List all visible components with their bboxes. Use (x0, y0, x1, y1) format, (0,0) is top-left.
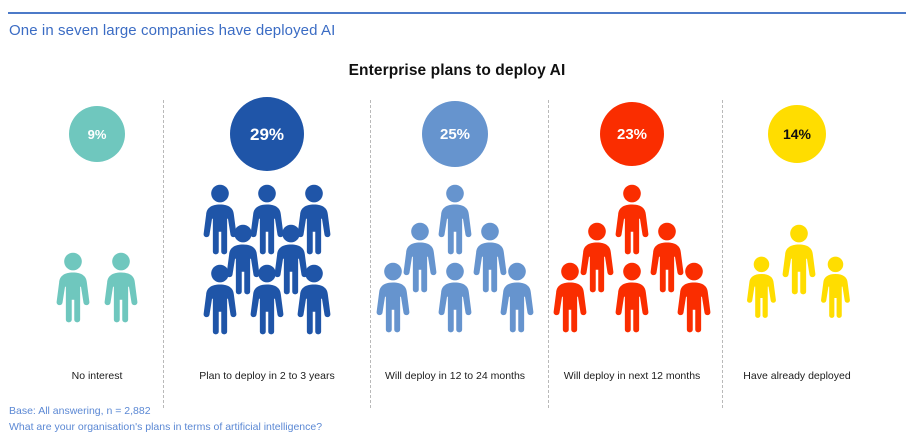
category-label-already-deployed: Have already deployed (743, 370, 850, 382)
person-icon (743, 256, 780, 319)
header-rule (8, 12, 906, 14)
category-label-plan-2-to-3-years: Plan to deploy in 2 to 3 years (199, 370, 334, 382)
person-icon (778, 224, 820, 296)
footnote-base: Base: All answering, n = 2,882 (9, 404, 322, 420)
footnote-question: What are your organisation's plans in te… (9, 420, 322, 436)
person-icon (434, 262, 476, 334)
chart-group-plan-2-to-3-years: 29% (157, 96, 377, 396)
person-icon (372, 262, 414, 334)
person-icon (611, 262, 653, 334)
person-icon (293, 264, 335, 336)
person-icon (817, 256, 854, 319)
chart-group-already-deployed: 14% (687, 96, 907, 396)
person-icon (52, 252, 94, 324)
category-label-no-interest: No interest (72, 370, 123, 382)
page-headline: One in seven large companies have deploy… (9, 22, 335, 39)
person-icon (100, 252, 142, 324)
chart-title: Enterprise plans to deploy AI (0, 62, 914, 80)
category-label-deploy-next-12-months: Will deploy in next 12 months (564, 370, 701, 382)
footnotes: Base: All answering, n = 2,882 What are … (9, 404, 322, 435)
pictogram-icons-already-deployed (687, 96, 907, 396)
pictogram-icons-plan-2-to-3-years (157, 96, 377, 396)
person-icon (199, 264, 241, 336)
person-icon (246, 264, 288, 336)
category-label-deploy-12-to-24-months: Will deploy in 12 to 24 months (385, 370, 525, 382)
pictogram-chart: 9%29%25%23%14% (0, 96, 914, 396)
person-icon (549, 262, 591, 334)
